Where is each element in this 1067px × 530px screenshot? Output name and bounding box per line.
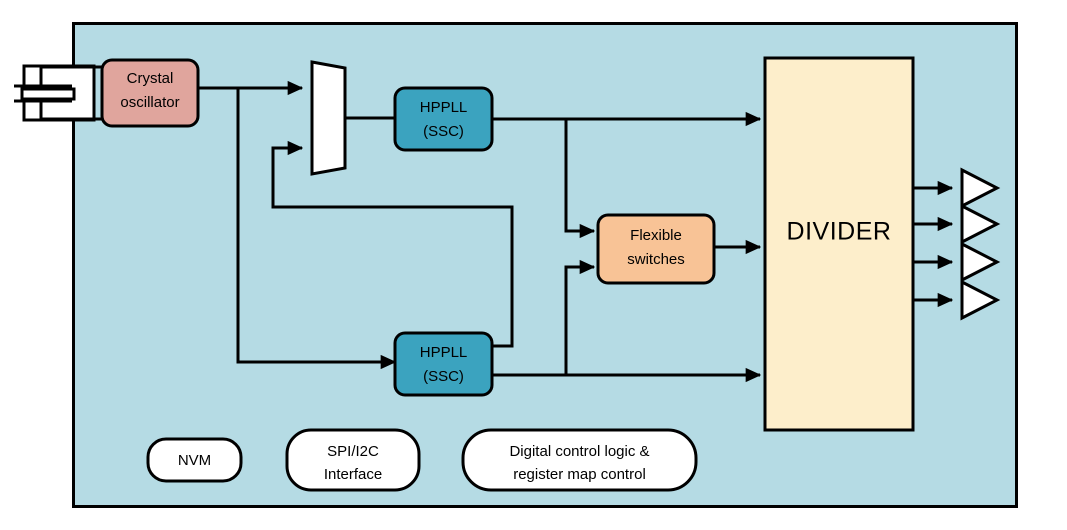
crystal-oscillator-block: Crystal oscillator bbox=[102, 60, 198, 126]
input-mux[interactable] bbox=[312, 62, 345, 174]
hppll-bottom-block: HPPLL (SSC) bbox=[395, 333, 492, 395]
nvm-label: NVM bbox=[178, 452, 211, 469]
hppll-top-block: HPPLL (SSC) bbox=[395, 88, 492, 150]
hppll-bottom-label-line1: HPPLL bbox=[420, 344, 468, 361]
digital-control-label-line2: register map control bbox=[513, 466, 646, 483]
crystal-oscillator-label-line2: oscillator bbox=[120, 94, 179, 111]
spi-i2c-label-line1: SPI/I2C bbox=[327, 443, 379, 460]
flexible-switches-block: Flexible switches bbox=[598, 215, 714, 283]
digital-control-block: Digital control logic & register map con… bbox=[463, 430, 696, 490]
hppll-bottom-label-line2: (SSC) bbox=[423, 368, 464, 385]
hppll-top-label-line2: (SSC) bbox=[423, 123, 464, 140]
crystal-oscillator-label-line1: Crystal bbox=[127, 70, 174, 87]
flexible-switches-label-line2: switches bbox=[627, 251, 685, 268]
hppll-top-label-line1: HPPLL bbox=[420, 99, 468, 116]
block-diagram-canvas: Crystal oscillator HPPLL (SSC) HPPLL (SS… bbox=[0, 0, 1067, 530]
nvm-block: NVM bbox=[148, 439, 241, 481]
divider-label: DIVIDER bbox=[787, 218, 892, 246]
flexible-switches-label-line1: Flexible bbox=[630, 227, 682, 244]
spi-i2c-label-line2: Interface bbox=[324, 466, 382, 483]
spi-i2c-interface-block: SPI/I2C Interface bbox=[287, 430, 419, 490]
digital-control-label-line1: Digital control logic & bbox=[509, 443, 649, 460]
block-diagram-root: Crystal oscillator HPPLL (SSC) HPPLL (SS… bbox=[0, 0, 1067, 530]
divider-block: DIVIDER bbox=[765, 58, 913, 430]
